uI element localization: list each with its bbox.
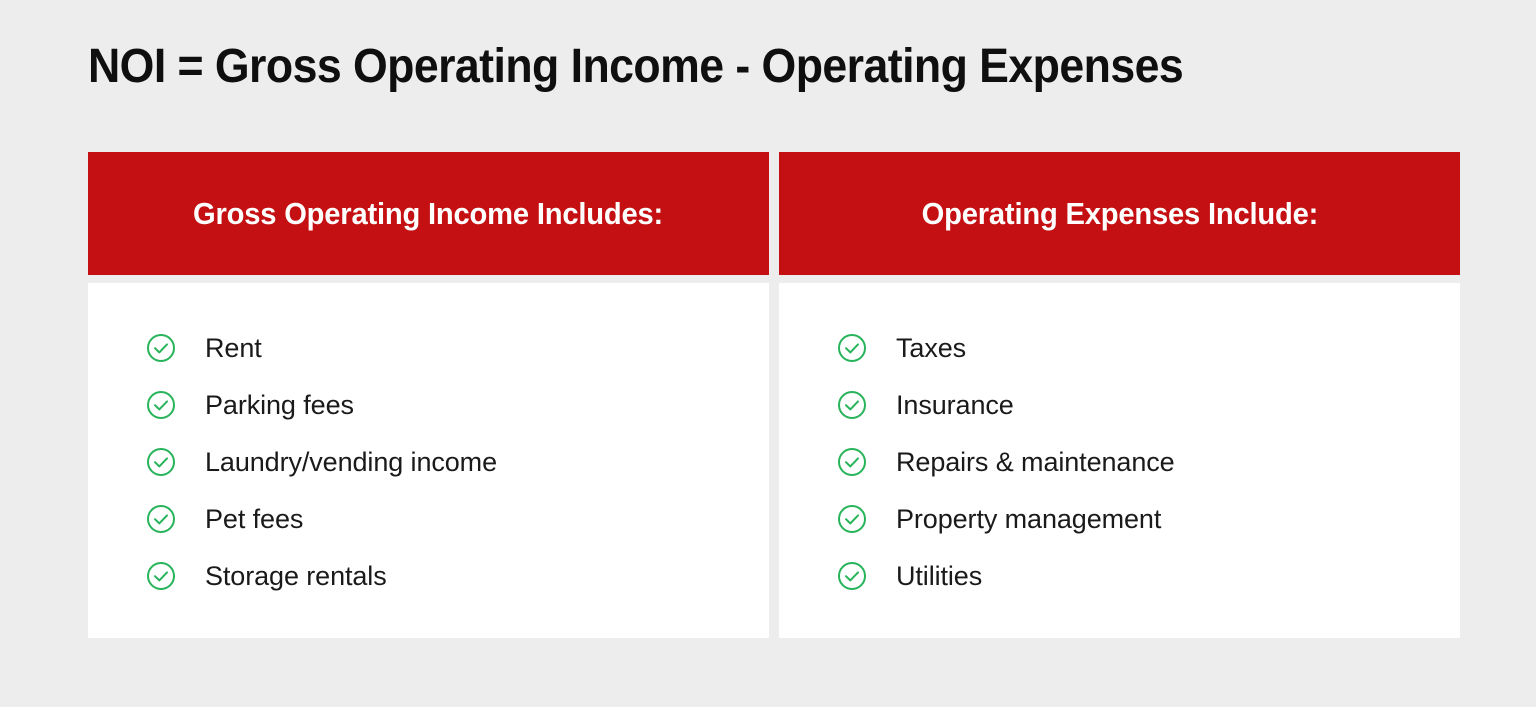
check-circle-icon [837,390,867,420]
page-title: NOI = Gross Operating Income - Operating… [88,38,1364,96]
list-item-label: Storage rentals [205,560,387,592]
list-item: Utilities [779,547,1460,604]
check-circle-icon [837,504,867,534]
list-item-label: Insurance [896,389,1014,421]
list-item-label: Laundry/vending income [205,446,497,478]
comparison-cards: Gross Operating Income Includes: Rent [88,152,1460,638]
list-item-label: Property management [896,503,1161,535]
list-item: Pet fees [88,490,769,547]
check-circle-icon [146,333,176,363]
list-item: Repairs & maintenance [779,433,1460,490]
list-item: Taxes [779,319,1460,376]
card-gross-operating-income: Gross Operating Income Includes: Rent [88,152,769,638]
list-item-label: Taxes [896,332,966,364]
check-circle-icon [837,333,867,363]
list-item-label: Utilities [896,560,982,592]
income-item-list: Rent Parking fees La [88,319,769,604]
card-body-income: Rent Parking fees La [88,283,769,638]
card-operating-expenses: Operating Expenses Include: Taxes [779,152,1460,638]
list-item-label: Pet fees [205,503,303,535]
list-item: Storage rentals [88,547,769,604]
list-item: Parking fees [88,376,769,433]
card-header-income: Gross Operating Income Includes: [88,152,769,275]
check-circle-icon [837,447,867,477]
noi-infographic: NOI = Gross Operating Income - Operating… [0,0,1536,707]
card-header-expenses-label: Operating Expenses Include: [921,195,1318,233]
check-circle-icon [837,561,867,591]
card-header-expenses: Operating Expenses Include: [779,152,1460,275]
list-item: Insurance [779,376,1460,433]
card-body-expenses: Taxes Insurance Repa [779,283,1460,638]
card-header-income-label: Gross Operating Income Includes: [193,195,663,233]
list-item: Rent [88,319,769,376]
list-item-label: Parking fees [205,389,354,421]
list-item-label: Repairs & maintenance [896,446,1175,478]
expenses-item-list: Taxes Insurance Repa [779,319,1460,604]
check-circle-icon [146,447,176,477]
check-circle-icon [146,504,176,534]
check-circle-icon [146,390,176,420]
list-item-label: Rent [205,332,262,364]
list-item: Property management [779,490,1460,547]
list-item: Laundry/vending income [88,433,769,490]
check-circle-icon [146,561,176,591]
